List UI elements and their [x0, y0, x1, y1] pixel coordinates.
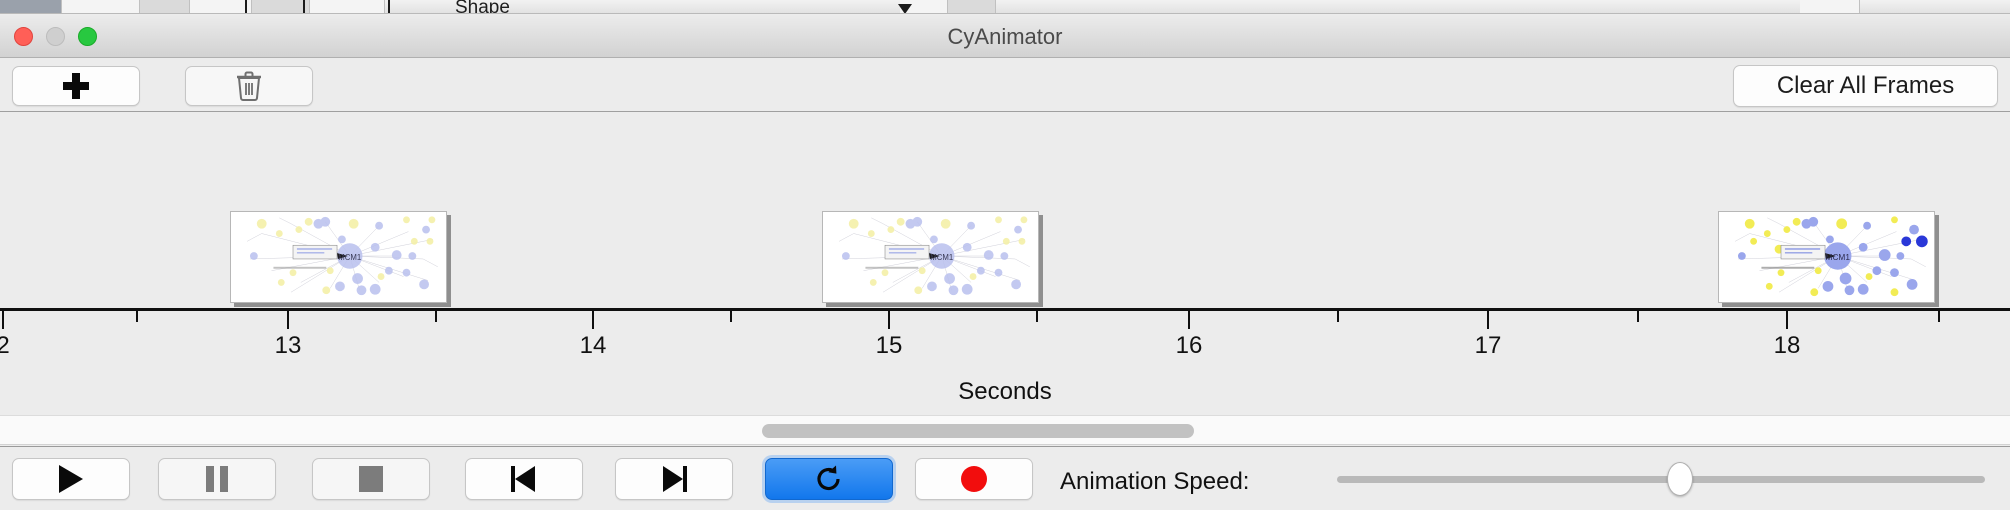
play-button[interactable] — [12, 458, 130, 500]
axis-tick-minor — [1036, 311, 1038, 322]
window-title: CyAnimator — [0, 24, 2010, 50]
axis-tick-major — [1786, 311, 1788, 329]
next-frame-button[interactable] — [615, 458, 733, 500]
axis-tick-major — [1188, 311, 1190, 329]
network-thumbnail-pale: MCM1 — [231, 212, 446, 302]
animation-speed-slider[interactable] — [1337, 468, 1985, 490]
playback-toolbar: Animation Speed: — [0, 446, 2010, 510]
axis-tick-label: 16 — [1176, 332, 1203, 360]
loop-button[interactable] — [765, 458, 893, 500]
timeline-panel[interactable]: MCM1 — [0, 113, 2010, 413]
pause-icon — [206, 466, 228, 492]
axis-tick-minor — [1938, 311, 1940, 322]
skip-back-icon — [511, 466, 537, 492]
title-bar: CyAnimator — [0, 14, 2010, 58]
axis-tick-major — [888, 311, 890, 329]
axis-tick-major — [592, 311, 594, 329]
add-frame-button[interactable] — [12, 66, 140, 106]
clear-all-frames-button[interactable]: Clear All Frames — [1733, 65, 1998, 107]
axis-tick-label: 2 — [0, 332, 10, 360]
axis-tick-minor — [1637, 311, 1639, 322]
timeline-scrollbar[interactable] — [0, 415, 2010, 445]
axis-tick-minor — [1337, 311, 1339, 322]
cyanimator-window: Shape CyAnimator Clear All Frames — [0, 0, 2010, 510]
pause-button[interactable] — [158, 458, 276, 500]
timeline-frame-thumbnail[interactable]: MCM1 — [230, 211, 447, 303]
timeline-axis: 2131415161718 — [0, 308, 2010, 368]
axis-tick-major — [1487, 311, 1489, 329]
play-icon — [59, 465, 83, 493]
axis-tick-minor — [435, 311, 437, 322]
frame-center-node-label: MCM1 — [338, 253, 361, 262]
previous-frame-button[interactable] — [465, 458, 583, 500]
axis-tick-label: 15 — [876, 332, 903, 360]
axis-tick-label: 18 — [1774, 332, 1801, 360]
network-thumbnail-bold: MCM1 — [1719, 212, 1934, 302]
frames-toolbar: Clear All Frames — [0, 59, 2010, 112]
plus-icon — [63, 73, 89, 99]
record-button[interactable] — [915, 458, 1033, 500]
timeline-scrollbar-thumb[interactable] — [762, 424, 1194, 438]
slider-knob[interactable] — [1667, 462, 1693, 496]
animation-speed-label: Animation Speed: — [1060, 468, 1249, 496]
timeline-frame-thumbnail[interactable]: MCM1 — [822, 211, 1039, 303]
axis-tick-major — [2, 311, 4, 329]
skip-forward-icon — [661, 466, 687, 492]
frame-center-node-label: MCM1 — [930, 253, 953, 262]
axis-tick-minor — [136, 311, 138, 322]
timeline-frame-thumbnail[interactable]: MCM1 — [1718, 211, 1935, 303]
axis-tick-major — [287, 311, 289, 329]
clear-all-frames-label: Clear All Frames — [1777, 72, 1954, 100]
record-icon — [961, 466, 987, 492]
stop-icon — [359, 466, 383, 492]
slider-track[interactable] — [1337, 476, 1985, 483]
delete-frame-button[interactable] — [185, 66, 313, 106]
axis-tick-label: 13 — [275, 332, 302, 360]
trash-icon — [236, 71, 262, 101]
axis-line — [0, 308, 2010, 311]
axis-title: Seconds — [0, 378, 2010, 406]
frame-center-node-label: MCM1 — [1826, 252, 1851, 262]
background-window-label: Shape — [455, 0, 510, 14]
network-thumbnail-pale: MCM1 — [823, 212, 1038, 302]
axis-tick-label: 17 — [1475, 332, 1502, 360]
axis-tick-minor — [730, 311, 732, 322]
loop-icon — [814, 464, 844, 494]
background-window-strip: Shape — [0, 0, 2010, 14]
stop-button[interactable] — [312, 458, 430, 500]
axis-tick-label: 14 — [580, 332, 607, 360]
